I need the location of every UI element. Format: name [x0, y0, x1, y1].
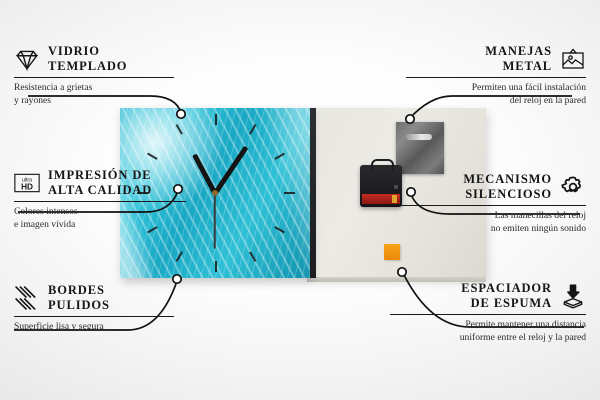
- battery: [362, 194, 400, 204]
- feature-title: VIDRIOTEMPLADO: [48, 44, 127, 74]
- feature-title: BORDESPULIDOS: [48, 283, 110, 313]
- feature-description: Colores intensose imagen vívida: [14, 206, 186, 232]
- diagonal-stripes-icon: [14, 285, 40, 311]
- foam-spacer: [384, 244, 400, 260]
- feature-description: Permite mantener una distanciauniforme e…: [390, 319, 586, 345]
- mechanism-hook: [371, 159, 394, 171]
- feature-rule: [14, 316, 174, 318]
- feature-rule: [14, 201, 186, 203]
- feature-description: Superficie lisa y segura: [14, 321, 174, 334]
- feature-title: MECANISMOSILENCIOSO: [463, 172, 552, 202]
- metal-hanger-plate: [396, 122, 444, 174]
- feature-espaciador-espuma[interactable]: ESPACIADORDE ESPUMA Permite mantener una…: [390, 281, 586, 345]
- gear-icon: [560, 174, 586, 200]
- ultra-hd-icon: ultra HD: [14, 170, 40, 196]
- infographic-canvas: VIDRIOTEMPLADO Resistencia a grietasy ra…: [0, 0, 600, 400]
- hanging-picture-icon: [560, 46, 586, 72]
- svg-text:HD: HD: [21, 182, 33, 191]
- feature-title: MANEJASMETAL: [485, 44, 552, 74]
- feature-vidrio-templado[interactable]: VIDRIOTEMPLADO Resistencia a grietasy ra…: [14, 44, 174, 108]
- feature-rule: [400, 205, 586, 207]
- clock-tick: [284, 192, 295, 194]
- feature-rule: [14, 77, 174, 79]
- clock-tick: [215, 114, 217, 125]
- press-down-pad-icon: [560, 283, 586, 309]
- mechanism-detail: [394, 185, 398, 189]
- clock-center-pin: [212, 190, 218, 196]
- feature-description: Permiten una fácil instalacióndel reloj …: [406, 82, 586, 108]
- feature-mecanismo-silencioso[interactable]: MECANISMOSILENCIOSO Las manecillas del r…: [400, 172, 586, 236]
- feature-bordes-pulidos[interactable]: BORDESPULIDOS Superficie lisa y segura: [14, 283, 174, 334]
- feature-description: Las manecillas del relojno emiten ningún…: [400, 210, 586, 236]
- feature-description: Resistencia a grietasy rayones: [14, 82, 174, 108]
- diamond-icon: [14, 46, 40, 72]
- feature-impresion-alta-calidad[interactable]: ultra HD IMPRESIÓN DEALTA CALIDAD Colore…: [14, 168, 186, 232]
- feature-title: ESPACIADORDE ESPUMA: [461, 281, 552, 311]
- clock-second-hand: [214, 193, 216, 249]
- feature-manejas-metal[interactable]: MANEJASMETAL Permiten una fácil instalac…: [406, 44, 586, 108]
- hanger-slot: [406, 134, 432, 140]
- clock-mechanism: [360, 165, 402, 207]
- feature-rule: [390, 314, 586, 316]
- feature-rule: [406, 77, 586, 79]
- feature-title: IMPRESIÓN DEALTA CALIDAD: [48, 168, 152, 198]
- clock-tick: [215, 261, 217, 272]
